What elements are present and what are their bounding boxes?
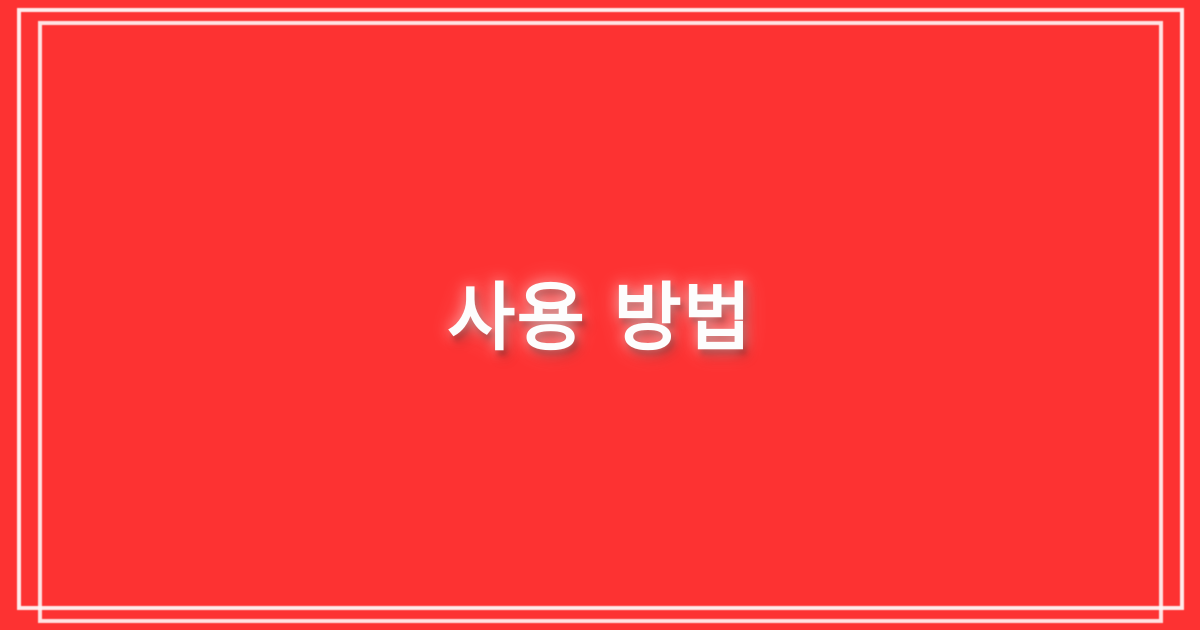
banner-title: 사용 방법 [407, 276, 792, 361]
title-card-banner: 사용 방법 [0, 0, 1200, 630]
title-container: 사용 방법 [0, 0, 1200, 630]
